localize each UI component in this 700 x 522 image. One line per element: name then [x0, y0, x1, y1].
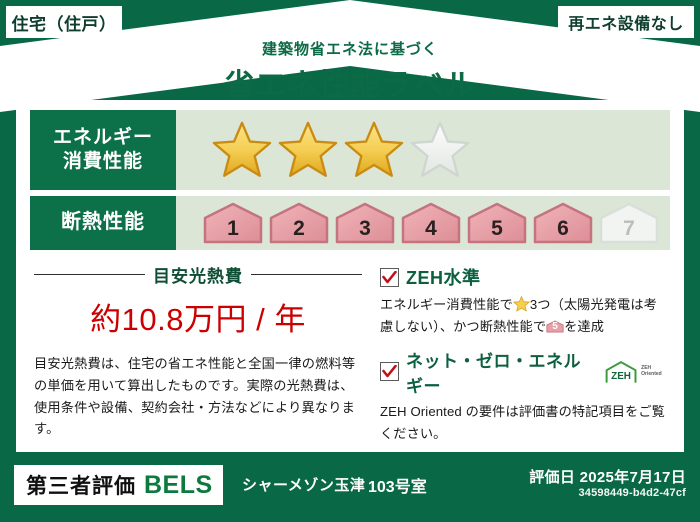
evaluation-date: 評価日 2025年7月17日: [529, 466, 686, 487]
net-zero-title: ネット・ゼロ・エネルギー: [406, 347, 596, 397]
energy-performance-label: 住宅（住戸） 再エネ設備なし 建築物省エネ法に基づく 省エネ性能ラベル エネルギ…: [0, 0, 700, 522]
house-icon-level-3: 3: [334, 202, 396, 244]
energy-performance-label-line2: 消費性能: [63, 150, 143, 174]
check-icon: [382, 271, 397, 284]
details-area: 目安光熱費 約10.8万円 / 年 目安光熱費は、住宅の省エネ性能と全国一律の燃…: [30, 260, 670, 450]
house-level-label: 5: [491, 217, 503, 244]
net-zero-block: ネット・ゼロ・エネルギー ZEH ZEH Oriented ZEH Orient…: [380, 347, 670, 446]
star-icon-empty: [410, 121, 470, 179]
bels-badge: 第三者評価 BELS: [14, 465, 223, 505]
net-zero-heading: ネット・ゼロ・エネルギー ZEH ZEH Oriented: [380, 347, 670, 397]
bels-label: BELS: [144, 471, 213, 500]
third-party-label: 第三者評価: [26, 470, 136, 500]
utility-cost-amount: 約10.8万円 / 年: [34, 294, 362, 339]
utility-cost-heading: 目安光熱費: [34, 262, 362, 287]
star-icon-filled: [212, 121, 272, 179]
zeh-column: ZEH水準 エネルギー消費性能で3つ（太陽光発電は考慮しない）、かつ断熱性能で …: [366, 260, 670, 450]
zeh-standard-title: ZEH水準: [406, 264, 481, 290]
insulation-performance-value: 1 2 3 4 5: [176, 196, 670, 250]
evaluation-id: 34598449-b4d2-47cf: [578, 487, 686, 499]
footer-bar: 第三者評価 BELS シャーメゾン玉津 103号室 評価日 2025年7月17日…: [0, 456, 700, 522]
checkbox-checked-net-zero[interactable]: [380, 362, 399, 381]
utility-cost-note: 目安光熱費は、住宅の省エネ性能と全国一律の燃料等の単価を用いて算出したものです。…: [34, 353, 362, 440]
house-icon-level-7: 7: [598, 202, 660, 244]
house-level-label: 1: [227, 217, 239, 244]
energy-performance-label: エネルギー 消費性能: [30, 110, 176, 190]
energy-performance-label-line1: エネルギー: [53, 126, 153, 150]
star-rating: [212, 121, 470, 179]
utility-cost-column: 目安光熱費 約10.8万円 / 年 目安光熱費は、住宅の省エネ性能と全国一律の燃…: [30, 260, 366, 450]
check-icon: [382, 365, 397, 378]
house-level-label: 4: [425, 217, 437, 244]
checkbox-checked-zeh-standard[interactable]: [380, 268, 399, 287]
house-icon-level-1: 1: [202, 202, 264, 244]
star-icon-inline: [513, 296, 530, 312]
tag-housing-type-label: 住宅（住戸）: [12, 10, 117, 35]
house-level-label: 6: [557, 217, 569, 244]
tag-housing-type: 住宅（住戸）: [6, 6, 122, 38]
svg-text:ZEH: ZEH: [611, 371, 631, 382]
house-level-label: 2: [293, 217, 305, 244]
divider-right: [251, 274, 362, 275]
house-icon-level-5: 5: [466, 202, 528, 244]
tag-renewable-energy-label: 再エネ設備なし: [568, 10, 684, 34]
house-level-label: 7: [623, 217, 635, 244]
house-icon-level-2: 2: [268, 202, 330, 244]
zeh-standard-block: ZEH水準 エネルギー消費性能で3つ（太陽光発電は考慮しない）、かつ断熱性能で …: [380, 264, 670, 339]
insulation-performance-label-text: 断熱性能: [61, 210, 145, 236]
divider-left: [34, 274, 145, 275]
evaluation-date-label: 評価日: [529, 469, 575, 486]
insulation-performance-row: 断熱性能 1 2 3: [30, 196, 670, 250]
insulation-level-scale: 1 2 3 4 5: [202, 202, 660, 244]
zeh-logo: ZEH ZEH Oriented: [603, 359, 670, 385]
energy-performance-value: [176, 110, 670, 190]
zeh-standard-text-3: を達成: [564, 319, 604, 334]
zeh-logo-subtext: ZEH Oriented: [641, 366, 670, 378]
zeh-standard-text-1: エネルギー消費性能で: [380, 297, 513, 312]
building-name: シャーメゾン玉津: [242, 474, 365, 495]
room-number: 103号室: [368, 473, 427, 497]
zeh-standard-star-count: 3つ: [530, 297, 551, 312]
house-icon-inline-level: 5: [546, 319, 564, 335]
zeh-standard-heading: ZEH水準: [380, 264, 670, 290]
net-zero-body: ZEH Oriented の要件は評価書の特記項目をご覧ください。: [380, 401, 670, 446]
insulation-performance-label: 断熱性能: [30, 196, 176, 250]
utility-cost-title: 目安光熱費: [153, 262, 243, 287]
evaluation-date-value: 2025年7月17日: [580, 469, 686, 486]
star-icon-filled: [278, 121, 338, 179]
main-panel: エネルギー 消費性能: [16, 100, 684, 452]
energy-performance-row: エネルギー 消費性能: [30, 110, 670, 190]
zeh-house-logo-icon: ZEH: [603, 359, 639, 385]
house-icon-level-4: 4: [400, 202, 462, 244]
zeh-standard-body: エネルギー消費性能で3つ（太陽光発電は考慮しない）、かつ断熱性能で 5 を達成: [380, 294, 670, 339]
tag-renewable-energy: 再エネ設備なし: [558, 6, 694, 38]
house-icon-level-6: 6: [532, 202, 594, 244]
star-icon-filled: [344, 121, 404, 179]
house-level-label: 3: [359, 217, 371, 244]
house-icon-inline: 5: [546, 319, 564, 334]
